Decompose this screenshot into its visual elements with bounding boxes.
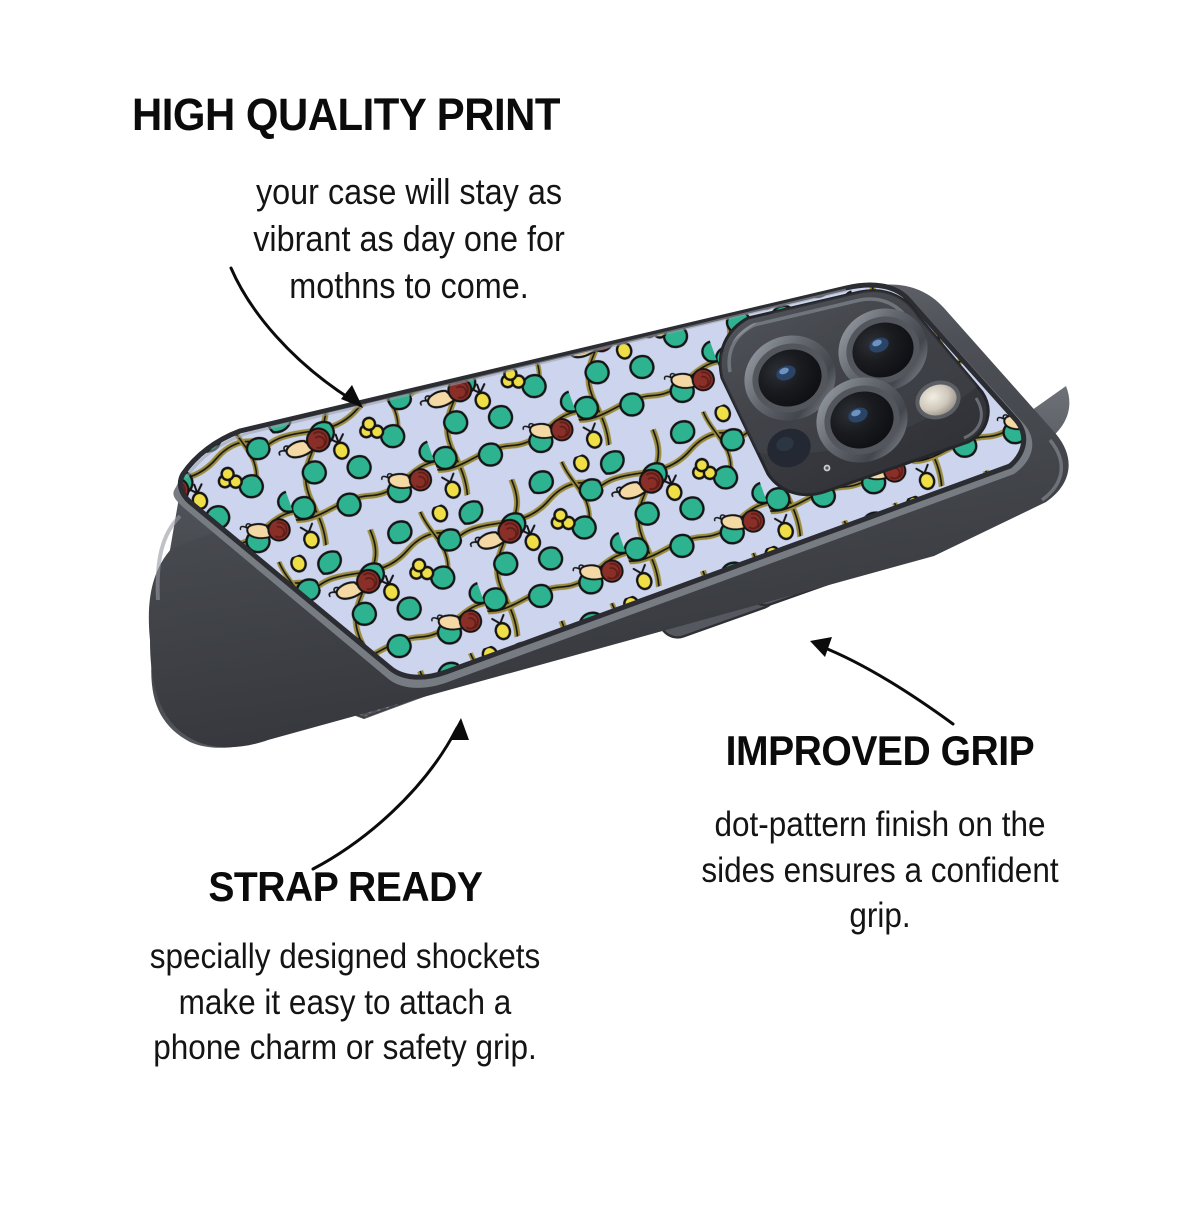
camera-microphone — [824, 465, 831, 472]
feature-improved-grip: IMPROVED GRIP dot-pattern finish on the … — [655, 730, 1105, 939]
feature-body: dot-pattern finish on the sides ensures … — [678, 802, 1083, 939]
feature-high-quality-print: HIGH QUALITY PRINT your case will stay a… — [132, 92, 692, 309]
feature-strap-ready: STRAP READY specially designed shockets … — [110, 866, 580, 1071]
feature-body: specially designed shockets make it easy… — [134, 934, 557, 1071]
infographic-canvas: HIGH QUALITY PRINT your case will stay a… — [0, 0, 1200, 1200]
feature-title: HIGH QUALITY PRINT — [132, 92, 653, 137]
feature-title: IMPROVED GRIP — [726, 730, 1035, 772]
feature-title: STRAP READY — [208, 866, 482, 908]
feature-body: your case will stay as vibrant as day on… — [216, 169, 603, 309]
